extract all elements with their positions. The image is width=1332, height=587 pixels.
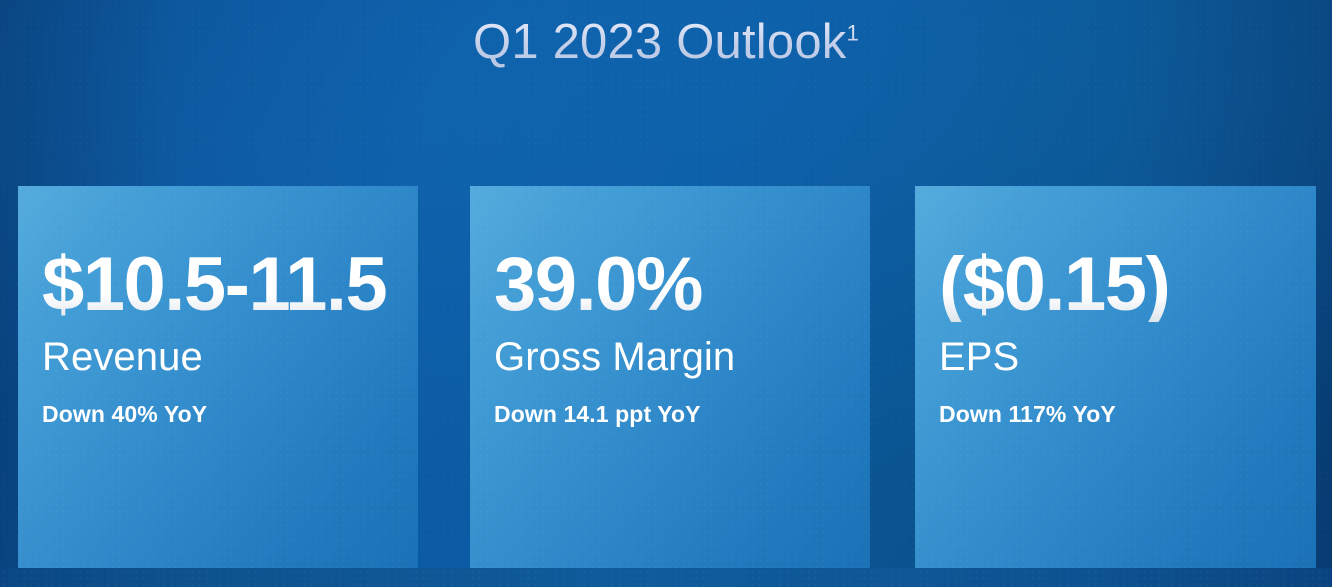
metric-label-gross-margin: Gross Margin: [494, 336, 842, 378]
metric-label-eps: EPS: [939, 336, 1288, 378]
outlook-slide: Q1 2023 Outlook1 $10.5-11.5B Revenue Dow…: [0, 0, 1332, 587]
page-title-text: Q1 2023 Outlook: [473, 15, 846, 69]
metric-card-row: $10.5-11.5B Revenue Down 40% YoY 39.0% G…: [18, 186, 1316, 568]
metric-card-gross-margin: 39.0% Gross Margin Down 14.1 ppt YoY: [470, 186, 870, 568]
metric-delta-revenue: Down 40% YoY: [42, 402, 390, 427]
metric-card-eps: ($0.15) EPS Down 117% YoY: [915, 186, 1316, 568]
metric-card-revenue: $10.5-11.5B Revenue Down 40% YoY: [18, 186, 418, 568]
metric-value-gross-margin: 39.0%: [494, 248, 842, 322]
metric-label-revenue: Revenue: [42, 336, 390, 378]
metric-value-revenue: $10.5-11.5B: [42, 248, 390, 322]
footnote-marker: 1: [846, 21, 859, 46]
bottom-band: [0, 568, 1332, 587]
metric-delta-gross-margin: Down 14.1 ppt YoY: [494, 402, 842, 427]
metric-delta-eps: Down 117% YoY: [939, 402, 1288, 427]
card-gap-1: [418, 186, 470, 568]
metric-value-eps: ($0.15): [939, 248, 1288, 322]
page-title: Q1 2023 Outlook1: [0, 16, 1332, 69]
card-gap-2: [870, 186, 915, 568]
